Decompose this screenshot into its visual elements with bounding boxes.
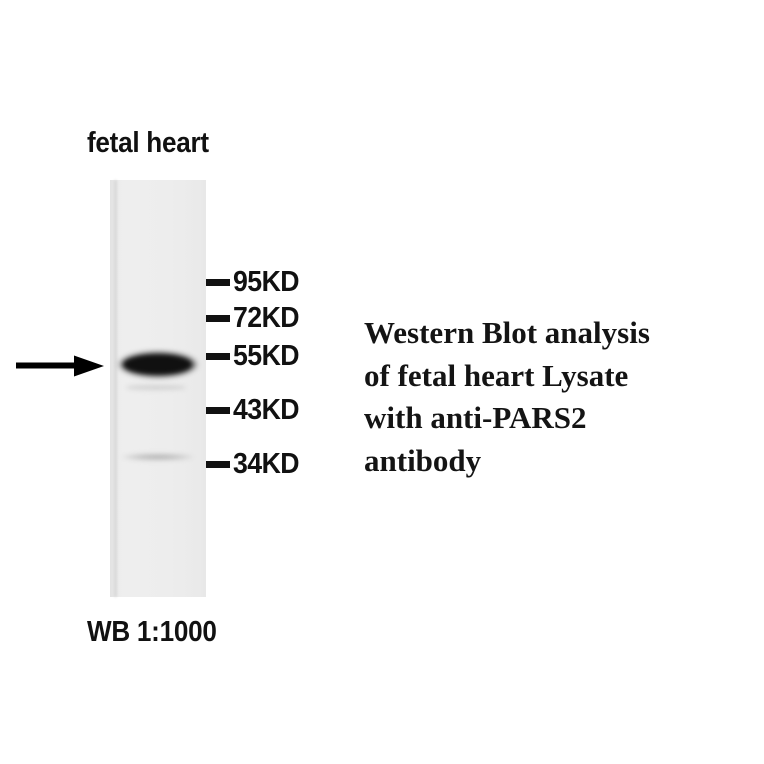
marker-95kd: 95KD (206, 265, 305, 299)
marker-label: 43KD (233, 395, 299, 425)
marker-label: 72KD (233, 303, 299, 333)
marker-label: 55KD (233, 341, 299, 371)
marker-label: 95KD (233, 267, 299, 297)
marker-34kd: 34KD (206, 447, 305, 481)
arrow-right-icon (16, 352, 104, 380)
marker-55kd: 55KD (206, 339, 305, 373)
western-blot-figure: fetal heart 95KD 72KD 55KD 43KD 34KD Wes… (0, 0, 764, 764)
lane-header-label: fetal heart (87, 126, 209, 160)
marker-label: 34KD (233, 449, 299, 479)
caption-line-2: of fetal heart Lysate (364, 355, 742, 398)
marker-tick-icon (206, 279, 230, 286)
band-minor-35kd (122, 453, 194, 461)
marker-43kd: 43KD (206, 393, 305, 427)
marker-tick-icon (206, 461, 230, 468)
marker-tick-icon (206, 315, 230, 322)
caption-line-1: Western Blot analysis (364, 312, 742, 355)
band-target-55kd (124, 357, 191, 372)
blot-lane (110, 180, 206, 597)
figure-caption: Western Blot analysis of fetal heart Lys… (364, 312, 742, 482)
lane-edge-streak (114, 180, 117, 597)
band-trace-45kd (126, 385, 186, 390)
caption-line-4: antibody (364, 440, 742, 483)
marker-72kd: 72KD (206, 301, 305, 335)
marker-tick-icon (206, 353, 230, 360)
marker-tick-icon (206, 407, 230, 414)
caption-line-3: with anti-PARS2 (364, 397, 742, 440)
dilution-label: WB 1:1000 (87, 615, 217, 649)
